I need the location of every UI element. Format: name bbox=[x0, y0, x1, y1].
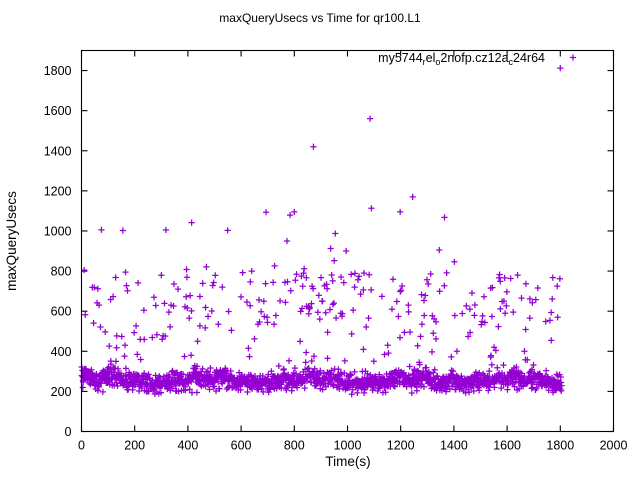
x-tick-label: 1000 bbox=[334, 439, 362, 453]
plot-background bbox=[0, 0, 640, 480]
y-tick-label: 1800 bbox=[44, 64, 72, 78]
chart-container: maxQueryUsecs vs Time for qr100.L1 maxQu… bbox=[0, 0, 640, 480]
scatter-plot: maxQueryUsecs vs Time for qr100.L1 maxQu… bbox=[0, 0, 640, 480]
x-tick-label: 2000 bbox=[600, 439, 628, 453]
x-tick-label: 600 bbox=[231, 439, 252, 453]
y-tick-label: 400 bbox=[51, 345, 72, 359]
y-tick-label: 800 bbox=[51, 265, 72, 279]
y-tick-label: 0 bbox=[65, 425, 72, 439]
x-tick-label: 400 bbox=[177, 439, 198, 453]
chart-title: maxQueryUsecs vs Time for qr100.L1 bbox=[219, 11, 421, 25]
y-tick-label: 1400 bbox=[44, 144, 72, 158]
x-tick-label: 1800 bbox=[546, 439, 574, 453]
x-tick-label: 1400 bbox=[440, 439, 468, 453]
x-tick-label: 1600 bbox=[493, 439, 521, 453]
y-tick-label: 600 bbox=[51, 305, 72, 319]
legend-entry-label: my5744relo2nofp.cz12ac24r64 bbox=[378, 51, 545, 67]
y-tick-label: 200 bbox=[51, 385, 72, 399]
x-axis-label: Time(s) bbox=[325, 454, 370, 469]
x-tick-label: 200 bbox=[124, 439, 145, 453]
x-tick-label: 0 bbox=[78, 439, 85, 453]
x-tick-label: 800 bbox=[284, 439, 305, 453]
y-tick-label: 1600 bbox=[44, 104, 72, 118]
y-tick-label: 1200 bbox=[44, 184, 72, 198]
y-tick-label: 1000 bbox=[44, 224, 72, 238]
y-axis-label: maxQueryUsecs bbox=[4, 191, 19, 291]
x-tick-label: 1200 bbox=[387, 439, 415, 453]
